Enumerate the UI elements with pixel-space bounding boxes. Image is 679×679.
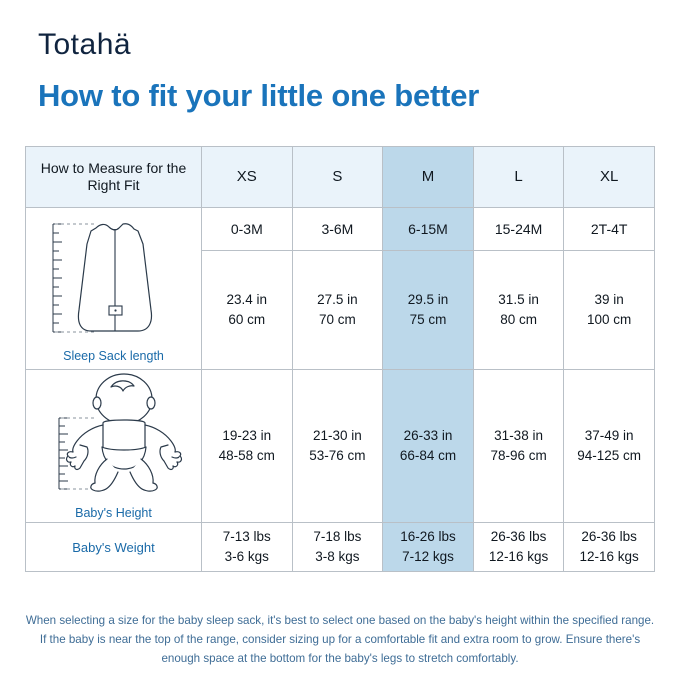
height-value-m: 26-33 in 66-84 cm [383,370,474,523]
weight-lbs-xs: 7-13 lbs [202,527,292,547]
brand-logo: Totahä [38,28,131,62]
length-value-m: 29.5 in 75 cm [383,251,474,370]
age-value-l: 15-24M [473,208,564,251]
height-value-xl: 37-49 in 94-125 cm [564,370,655,523]
height-in-s: 21-30 in [293,426,383,446]
length-in-xl: 39 in [564,290,654,310]
size-header-m: M [383,147,474,208]
weight-kgs-xl: 12-16 kgs [564,547,654,567]
height-value-s: 21-30 in 53-76 cm [292,370,383,523]
size-header-s: S [292,147,383,208]
height-in-xs: 19-23 in [202,426,292,446]
size-table: How to Measure for the Right Fit XS S M … [25,146,655,572]
weight-lbs-s: 7-18 lbs [293,527,383,547]
page-title: How to fit your little one better [38,78,479,114]
weight-value-xl: 26-36 lbs 12-16 kgs [564,523,655,572]
weight-value-xs: 7-13 lbs 3-6 kgs [202,523,293,572]
height-cm-xs: 48-58 cm [202,446,292,466]
age-value-xl: 2T-4T [564,208,655,251]
weight-lbs-m: 16-26 lbs [383,527,473,547]
sizing-note: When selecting a size for the baby sleep… [24,612,656,668]
sleep-sack-caption: Sleep Sack length [63,349,164,363]
weight-lbs-l: 26-36 lbs [474,527,564,547]
length-value-xl: 39 in 100 cm [564,251,655,370]
weight-value-m: 16-26 lbs 7-12 kgs [383,523,474,572]
height-cm-s: 53-76 cm [293,446,383,466]
weight-kgs-m: 7-12 kgs [383,547,473,567]
baby-illustration-cell: Baby's Height [26,370,202,523]
age-value-xs: 0-3M [202,208,293,251]
height-value-l: 31-38 in 78-96 cm [473,370,564,523]
length-value-s: 27.5 in 70 cm [292,251,383,370]
age-value-m: 6-15M [383,208,474,251]
table-row: Baby's Weight 7-13 lbs 3-6 kgs 7-18 lbs … [26,523,655,572]
length-cm-l: 80 cm [474,310,564,330]
age-value-s: 3-6M [292,208,383,251]
length-cm-s: 70 cm [293,310,383,330]
length-cm-xl: 100 cm [564,310,654,330]
weight-lbs-xl: 26-36 lbs [564,527,654,547]
weight-kgs-l: 12-16 kgs [474,547,564,567]
length-cm-xs: 60 cm [202,310,292,330]
length-value-l: 31.5 in 80 cm [473,251,564,370]
length-in-s: 27.5 in [293,290,383,310]
length-in-l: 31.5 in [474,290,564,310]
size-table-container: How to Measure for the Right Fit XS S M … [25,146,654,572]
weight-kgs-xs: 3-6 kgs [202,547,292,567]
baby-height-caption: Baby's Height [75,506,152,520]
length-value-xs: 23.4 in 60 cm [202,251,293,370]
weight-value-l: 26-36 lbs 12-16 kgs [473,523,564,572]
table-row: Sleep Sack length 0-3M 3-6M 6-15M 15-24M… [26,208,655,251]
sleep-sack-icon [39,214,189,345]
height-cm-l: 78-96 cm [474,446,564,466]
size-header-xs: XS [202,147,293,208]
length-cm-m: 75 cm [383,310,473,330]
height-in-m: 26-33 in [383,426,473,446]
length-in-m: 29.5 in [383,290,473,310]
measure-column-header: How to Measure for the Right Fit [26,147,202,208]
weight-value-s: 7-18 lbs 3-8 kgs [292,523,383,572]
length-in-xs: 23.4 in [202,290,292,310]
baby-icon [39,373,189,502]
table-row: Baby's Height 19-23 in 48-58 cm 21-30 in… [26,370,655,523]
sleep-sack-illustration-cell: Sleep Sack length [26,208,202,370]
weight-row-label-cell: Baby's Weight [26,523,202,572]
height-cm-m: 66-84 cm [383,446,473,466]
height-in-xl: 37-49 in [564,426,654,446]
size-header-l: L [473,147,564,208]
height-in-l: 31-38 in [474,426,564,446]
size-chart-page: Totahä How to fit your little one better… [0,0,679,679]
height-cm-xl: 94-125 cm [564,446,654,466]
height-value-xs: 19-23 in 48-58 cm [202,370,293,523]
weight-kgs-s: 3-8 kgs [293,547,383,567]
baby-weight-label: Baby's Weight [72,540,154,555]
table-header-row: How to Measure for the Right Fit XS S M … [26,147,655,208]
size-header-xl: XL [564,147,655,208]
